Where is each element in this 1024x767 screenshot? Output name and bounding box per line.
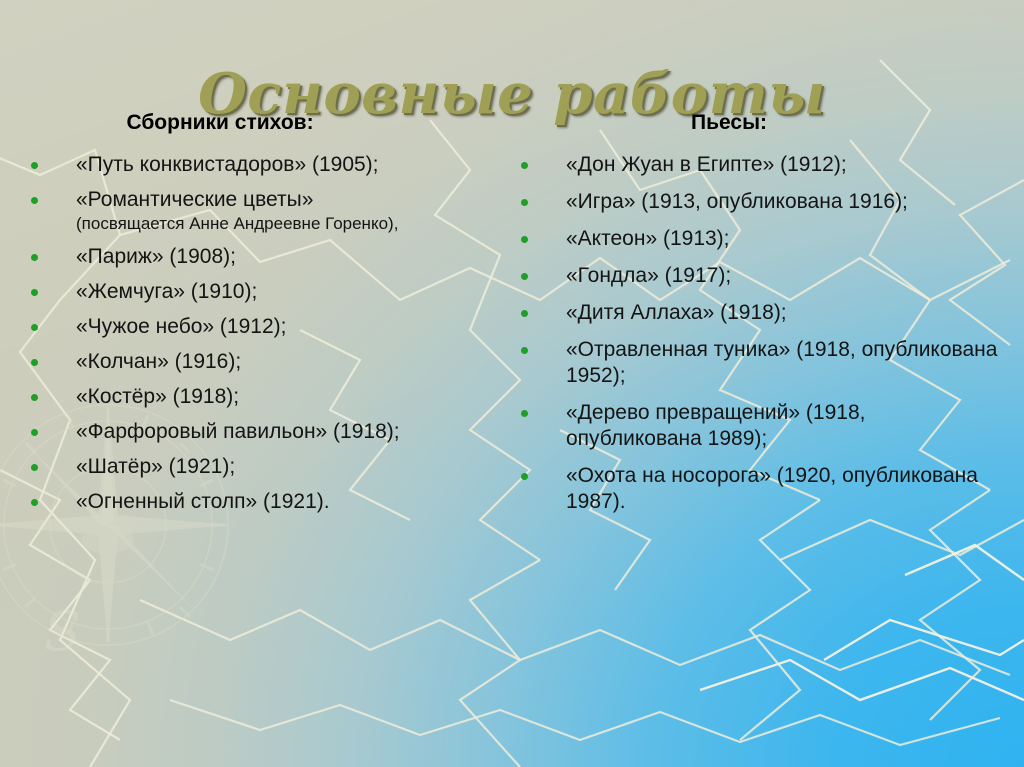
list-item: «Путь конквистадоров» (1905); <box>18 152 470 178</box>
list-item: «Шатёр» (1921); <box>18 454 470 480</box>
slide: S Основные работы Сборники стихов: «Путь… <box>0 0 1024 767</box>
list-item: «Романтические цветы» (посвящается Анне … <box>18 187 470 235</box>
list-item-text: «Костёр» (1918); <box>76 385 239 408</box>
column-heading-poetry: Сборники стихов: <box>18 110 470 136</box>
list-item: «Гондла» (1917); <box>508 263 1006 289</box>
list-item-text: «Огненный столп» (1921). <box>76 490 330 513</box>
list-item-text: «Колчан» (1916); <box>76 350 241 373</box>
list-item-text: «Гондла» (1917); <box>566 264 731 287</box>
list-item-text: «Охота на носорога» (1920, опубликована … <box>566 464 978 513</box>
list-item: «Дерево превращений» (1918, опубликована… <box>508 400 1006 452</box>
list-item: «Отравленная туника» (1918, опубликована… <box>508 337 1006 389</box>
list-item-text: «Дон Жуан в Египте» (1912); <box>566 153 847 176</box>
plays-list: «Дон Жуан в Египте» (1912); «Игра» (1913… <box>508 152 1006 515</box>
list-item-subtext: (посвящается Анне Андреевне Горенко), <box>76 213 470 235</box>
list-item: «Фарфоровый павильон» (1918); <box>18 419 470 445</box>
list-item: «Чужое небо» (1912); <box>18 314 470 340</box>
list-item-text: «Париж» (1908); <box>76 245 236 268</box>
list-item-text: «Отравленная туника» (1918, опубликована… <box>566 338 997 387</box>
column-heading-plays: Пьесы: <box>508 110 1006 136</box>
list-item-text: «Игра» (1913, опубликована 1916); <box>566 190 908 213</box>
list-item: «Охота на носорога» (1920, опубликована … <box>508 463 1006 515</box>
list-item: «Дон Жуан в Египте» (1912); <box>508 152 1006 178</box>
list-item: «Колчан» (1916); <box>18 349 470 375</box>
list-item-text: «Чужое небо» (1912); <box>76 315 286 338</box>
column-poetry-collections: Сборники стихов: «Путь конквистадоров» (… <box>18 110 470 524</box>
list-item-text: «Жемчуга» (1910); <box>76 280 257 303</box>
column-plays: Пьесы: «Дон Жуан в Египте» (1912); «Игра… <box>508 110 1006 526</box>
list-item: «Дитя Аллаха» (1918); <box>508 300 1006 326</box>
list-item: «Жемчуга» (1910); <box>18 279 470 305</box>
list-item: «Костёр» (1918); <box>18 384 470 410</box>
list-item-text: «Дерево превращений» (1918, опубликована… <box>566 401 865 450</box>
list-item-text: «Фарфоровый павильон» (1918); <box>76 420 400 443</box>
list-item: «Огненный столп» (1921). <box>18 489 470 515</box>
list-item-text: «Романтические цветы» <box>76 188 313 211</box>
list-item-text: «Актеон» (1913); <box>566 227 730 250</box>
list-item-text: «Дитя Аллаха» (1918); <box>566 301 787 324</box>
list-item-text: «Шатёр» (1921); <box>76 455 235 478</box>
list-item: «Актеон» (1913); <box>508 226 1006 252</box>
poetry-list: «Путь конквистадоров» (1905); «Романтиче… <box>18 152 470 515</box>
content-columns: Сборники стихов: «Путь конквистадоров» (… <box>0 110 1024 760</box>
list-item: «Париж» (1908); <box>18 244 470 270</box>
list-item: «Игра» (1913, опубликована 1916); <box>508 189 1006 215</box>
list-item-text: «Путь конквистадоров» (1905); <box>76 153 379 176</box>
